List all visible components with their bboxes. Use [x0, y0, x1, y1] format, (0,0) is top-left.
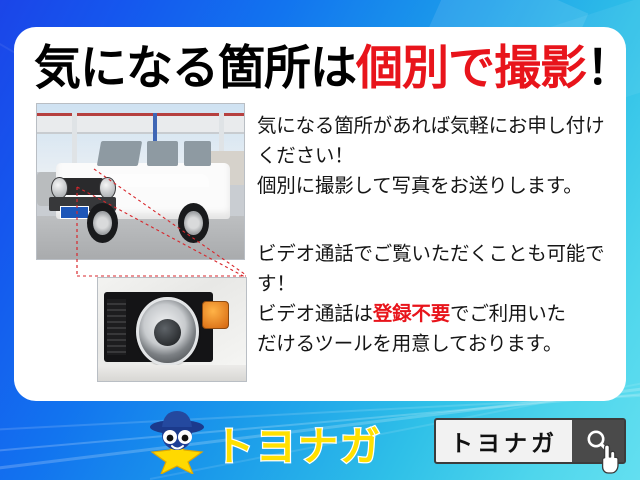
description-block-2: ビデオ通話でご覧いただくことも可能で す！ ビデオ通話は登録不要でご利用いた だ…: [257, 239, 619, 359]
vehicle-license-plate: [60, 206, 89, 219]
photo-post: [72, 113, 77, 166]
vehicle-front-window: [147, 141, 178, 166]
mascot-hat-crown: [162, 411, 192, 427]
vehicle-front-wheel: [87, 203, 118, 243]
photo-canopy: [37, 113, 244, 134]
hand-pointer-icon: [598, 444, 622, 474]
closeup-turn-signal: [202, 301, 229, 330]
vehicle-photo-scene: [37, 104, 244, 259]
description-line: 気になる箇所があれば気軽にお申し付け: [257, 111, 619, 141]
description-line-highlight: ビデオ通話は登録不要でご利用いた: [257, 299, 619, 329]
footer-bar: トヨナガ トヨナガ: [0, 400, 640, 480]
description-text-pre: ビデオ通話は: [257, 303, 373, 325]
headlight-closeup-photo: [97, 277, 247, 382]
headlight-photo-scene: [98, 278, 246, 381]
closeup-headlamp: [136, 297, 198, 367]
toyonaga-mascot-icon: [146, 408, 208, 474]
description-line: す！: [257, 269, 619, 299]
vehicle-headlight-right: [99, 177, 115, 199]
closeup-fender: [98, 365, 246, 381]
headline-black-1: 気になる箇所は: [34, 41, 356, 94]
vehicle-headlight-left: [51, 177, 67, 199]
description-line: ください！: [257, 141, 619, 171]
description-text-emphasis: 登録不要: [373, 303, 450, 325]
vehicle-full-photo: [36, 103, 245, 260]
description-block-1: 気になる箇所があれば気軽にお申し付け ください！ 個別に撮影して写真をお送りしま…: [257, 111, 619, 201]
screenshot-root: 気になる箇所は個別で撮影！: [0, 0, 640, 480]
headline-black-2: ！: [586, 41, 626, 94]
headline-red: 個別で撮影: [356, 41, 586, 94]
search-input[interactable]: トヨナガ: [436, 424, 572, 458]
mascot-pupil-right: [182, 435, 189, 442]
description-line: ビデオ通話でご覧いただくことも可能で: [257, 239, 619, 269]
page-title: 気になる箇所は個別で撮影！: [34, 39, 614, 99]
description-line: だけるツールを用意しております。: [257, 329, 619, 359]
mascot-pupil-left: [167, 435, 174, 442]
description-line: 個別に撮影して写真をお送りします。: [257, 171, 619, 201]
photo-ground: [37, 216, 244, 259]
vehicle-rear-window: [184, 141, 211, 166]
brand-logo-text: トヨナガ: [214, 414, 382, 472]
content-card: 気になる箇所は個別で撮影！: [14, 27, 626, 401]
closeup-grille-vent: [107, 299, 126, 356]
description-text-post: でご利用いた: [450, 303, 566, 325]
vehicle-rear-wheel: [178, 203, 209, 243]
vehicle-cabin: [101, 174, 209, 187]
vehicle-windshield: [97, 141, 143, 166]
